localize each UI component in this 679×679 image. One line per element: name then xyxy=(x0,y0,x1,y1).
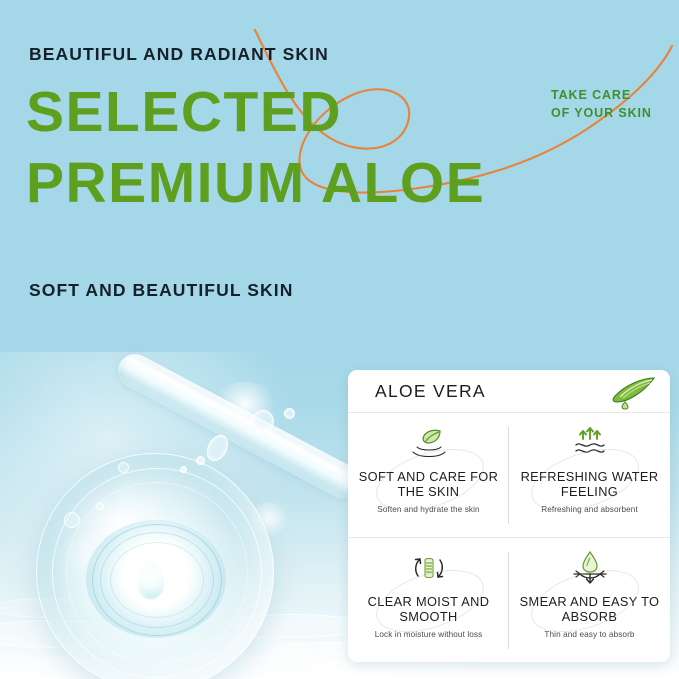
stream-bubble xyxy=(180,466,187,473)
feature-title: SOFT AND CARE FOR THE SKIN xyxy=(348,469,509,499)
stream-bubble xyxy=(196,456,205,465)
sphere-bubble xyxy=(64,512,80,528)
arrows-water-waves-icon xyxy=(568,426,612,460)
hero-headline-line2: PREMIUM ALOE xyxy=(26,155,485,212)
take-care-line2: OF YOUR SKIN xyxy=(551,104,652,122)
sphere-bubble xyxy=(96,502,104,510)
stream-bubble xyxy=(252,410,274,432)
feature-subtitle: Soften and hydrate the skin xyxy=(377,505,479,514)
feature-cell-soft-and-care: SOFT AND CARE FOR THE SKIN Soften and hy… xyxy=(348,413,509,538)
stream-bubble xyxy=(284,408,295,419)
poster-canvas: BEAUTIFUL AND RADIANT SKIN SELECTED PREM… xyxy=(0,0,679,679)
feature-cell-refreshing-water: REFRESHING WATER FEELING Refreshing and … xyxy=(509,413,670,538)
card-header: ALOE VERA xyxy=(348,370,670,413)
card-title: ALOE VERA xyxy=(375,381,486,402)
take-care-badge: TAKE CARE OF YOUR SKIN xyxy=(551,86,652,122)
feature-subtitle: Lock in moisture without loss xyxy=(375,630,483,639)
feature-subtitle: Refreshing and absorbent xyxy=(541,505,638,514)
feature-subtitle: Thin and easy to absorb xyxy=(544,630,634,639)
hero-kicker: BEAUTIFUL AND RADIANT SKIN xyxy=(29,44,329,65)
feature-cell-smear-absorb: SMEAR AND EASY TO ABSORB Thin and easy t… xyxy=(509,538,670,662)
droplet-absorb-arrow-icon xyxy=(570,551,610,585)
aloe-vera-info-card: ALOE VERA SOFT xyxy=(348,370,670,662)
feature-title: CLEAR MOIST AND SMOOTH xyxy=(348,594,509,624)
hero-headline-line1: SELECTED xyxy=(26,84,342,141)
sphere-bubble xyxy=(118,462,129,473)
feature-title: REFRESHING WATER FEELING xyxy=(509,469,670,499)
feature-grid: SOFT AND CARE FOR THE SKIN Soften and hy… xyxy=(348,413,670,662)
rotating-arrows-moisture-icon xyxy=(409,551,449,585)
feature-title: SMEAR AND EASY TO ABSORB xyxy=(509,594,670,624)
feature-cell-clear-moist: CLEAR MOIST AND SMOOTH Lock in moisture … xyxy=(348,538,509,662)
take-care-line1: TAKE CARE xyxy=(551,86,652,104)
aloe-leaf-drop-icon xyxy=(604,372,656,410)
leaf-ripple-icon xyxy=(407,426,451,460)
hero-subline: SOFT AND BEAUTIFUL SKIN xyxy=(29,280,293,301)
